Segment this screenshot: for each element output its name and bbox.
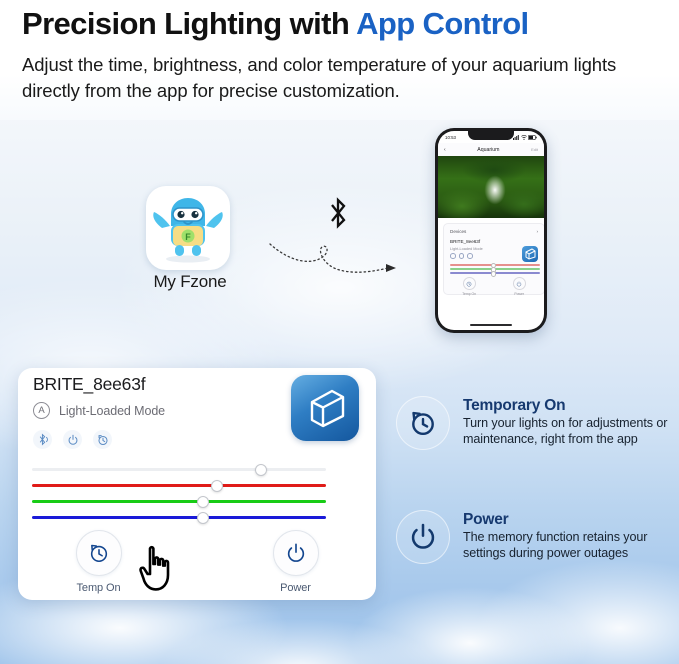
slider-red[interactable]	[32, 478, 326, 494]
phone-screen: 10:53 ‹ Aquarium Edit Devices › BRITE_8e…	[438, 131, 544, 330]
power-label: Power	[280, 582, 311, 594]
status-time: 10:53	[445, 135, 456, 140]
card-action-buttons: Temp On Power	[0, 530, 394, 594]
phone-home-indicator	[470, 324, 512, 326]
slider-blue[interactable]	[32, 510, 326, 526]
headline-lead: Precision Lighting with	[22, 6, 356, 41]
slider-blue-knob[interactable]	[197, 512, 209, 524]
battery-icon	[528, 135, 537, 140]
power-icon	[396, 510, 450, 564]
timer-icon	[463, 277, 476, 290]
phone-sliders	[450, 264, 540, 277]
slider-green[interactable]	[32, 494, 326, 510]
product-cube-icon	[291, 375, 359, 441]
phone-devices-header: Devices ›	[450, 229, 538, 234]
color-sliders	[32, 462, 326, 526]
slider-red-track	[32, 484, 326, 487]
timer-icon[interactable]	[93, 430, 112, 449]
phone-slider-green[interactable]	[450, 268, 540, 270]
phone-page-title: Aquarium	[477, 147, 499, 153]
signal-icon	[513, 135, 519, 140]
callout-description: Turn your lights on for adjustments or m…	[463, 416, 679, 448]
phone-power-button[interactable]: Power	[513, 277, 526, 296]
svg-text:F: F	[185, 232, 191, 242]
device-mode-label: Light-Loaded Mode	[59, 404, 165, 418]
hand-pointer-icon	[138, 545, 184, 593]
callout-text: Power The memory function retains your s…	[463, 510, 679, 562]
device-mode-row: A Light-Loaded Mode	[33, 402, 165, 419]
callout-temporary-on: Temporary On Turn your lights on for adj…	[396, 396, 679, 450]
slider-green-knob[interactable]	[197, 496, 209, 508]
bluetooth-signal-icon[interactable]	[33, 430, 52, 449]
callout-title: Temporary On	[463, 397, 679, 415]
callout-description: The memory function retains your setting…	[463, 530, 679, 562]
status-icons	[513, 135, 537, 140]
back-chevron-icon[interactable]: ‹	[444, 147, 446, 153]
phone-device-name: BRITE_8ee63f	[450, 239, 538, 244]
timer-icon	[396, 396, 450, 450]
dotted-curved-arrow-icon	[268, 228, 403, 280]
phone-timer-icon[interactable]	[467, 253, 473, 259]
slider-white-knob[interactable]	[255, 464, 267, 476]
phone-device-card: Devices › BRITE_8ee63f Light-Loaded Mode	[443, 223, 544, 295]
temp-on-label: Temp On	[77, 582, 121, 594]
phone-navbar-action[interactable]: Edit	[531, 147, 538, 152]
chevron-right-icon[interactable]: ›	[536, 229, 538, 234]
wifi-icon	[521, 135, 527, 140]
phone-power-label: Power	[514, 292, 524, 296]
device-icon-row	[33, 430, 112, 449]
phone-devices-label: Devices	[450, 229, 466, 234]
app-name-label: My Fzone	[100, 272, 280, 292]
slider-green-track	[32, 500, 326, 503]
bluetooth-icon	[325, 196, 351, 230]
callout-text: Temporary On Turn your lights on for adj…	[463, 396, 679, 448]
slider-blue-track	[32, 516, 326, 519]
phone-power-icon[interactable]	[459, 253, 465, 259]
phone-mockup: 10:53 ‹ Aquarium Edit Devices › BRITE_8e…	[435, 128, 547, 333]
callout-power: Power The memory function retains your s…	[396, 510, 679, 564]
aquarium-photo	[438, 156, 544, 218]
power-button[interactable]: Power	[197, 530, 394, 594]
headline-accent: App Control	[356, 6, 528, 41]
slider-white[interactable]	[32, 462, 326, 478]
phone-slider-blue[interactable]	[450, 272, 540, 274]
power-icon	[513, 277, 526, 290]
phone-slider-red[interactable]	[450, 264, 540, 266]
power-icon[interactable]	[63, 430, 82, 449]
slider-red-knob[interactable]	[211, 480, 223, 492]
phone-bluetooth-icon[interactable]	[450, 253, 456, 259]
phone-buttons: Temp On Power	[444, 277, 544, 296]
app-icon: F	[146, 186, 230, 270]
auto-mode-badge: A	[33, 402, 50, 419]
timer-icon	[76, 530, 122, 576]
my-fzone-mascot-icon: F	[146, 186, 230, 270]
promo-banner: Precision Lighting with App Control Adju…	[0, 0, 679, 664]
power-icon	[273, 530, 319, 576]
phone-notch	[468, 131, 514, 140]
page-subtitle: Adjust the time, brightness, and color t…	[22, 52, 674, 105]
callout-title: Power	[463, 511, 679, 529]
phone-temp-on-label: Temp On	[462, 292, 476, 296]
device-name: BRITE_8ee63f	[33, 374, 145, 395]
page-title: Precision Lighting with App Control	[22, 6, 672, 43]
phone-product-cube-icon	[522, 246, 538, 262]
slider-white-track	[32, 468, 326, 471]
phone-temp-on-button[interactable]: Temp On	[462, 277, 476, 296]
phone-navbar: ‹ Aquarium Edit	[438, 143, 544, 156]
app-icon-tile[interactable]: F	[146, 186, 230, 270]
